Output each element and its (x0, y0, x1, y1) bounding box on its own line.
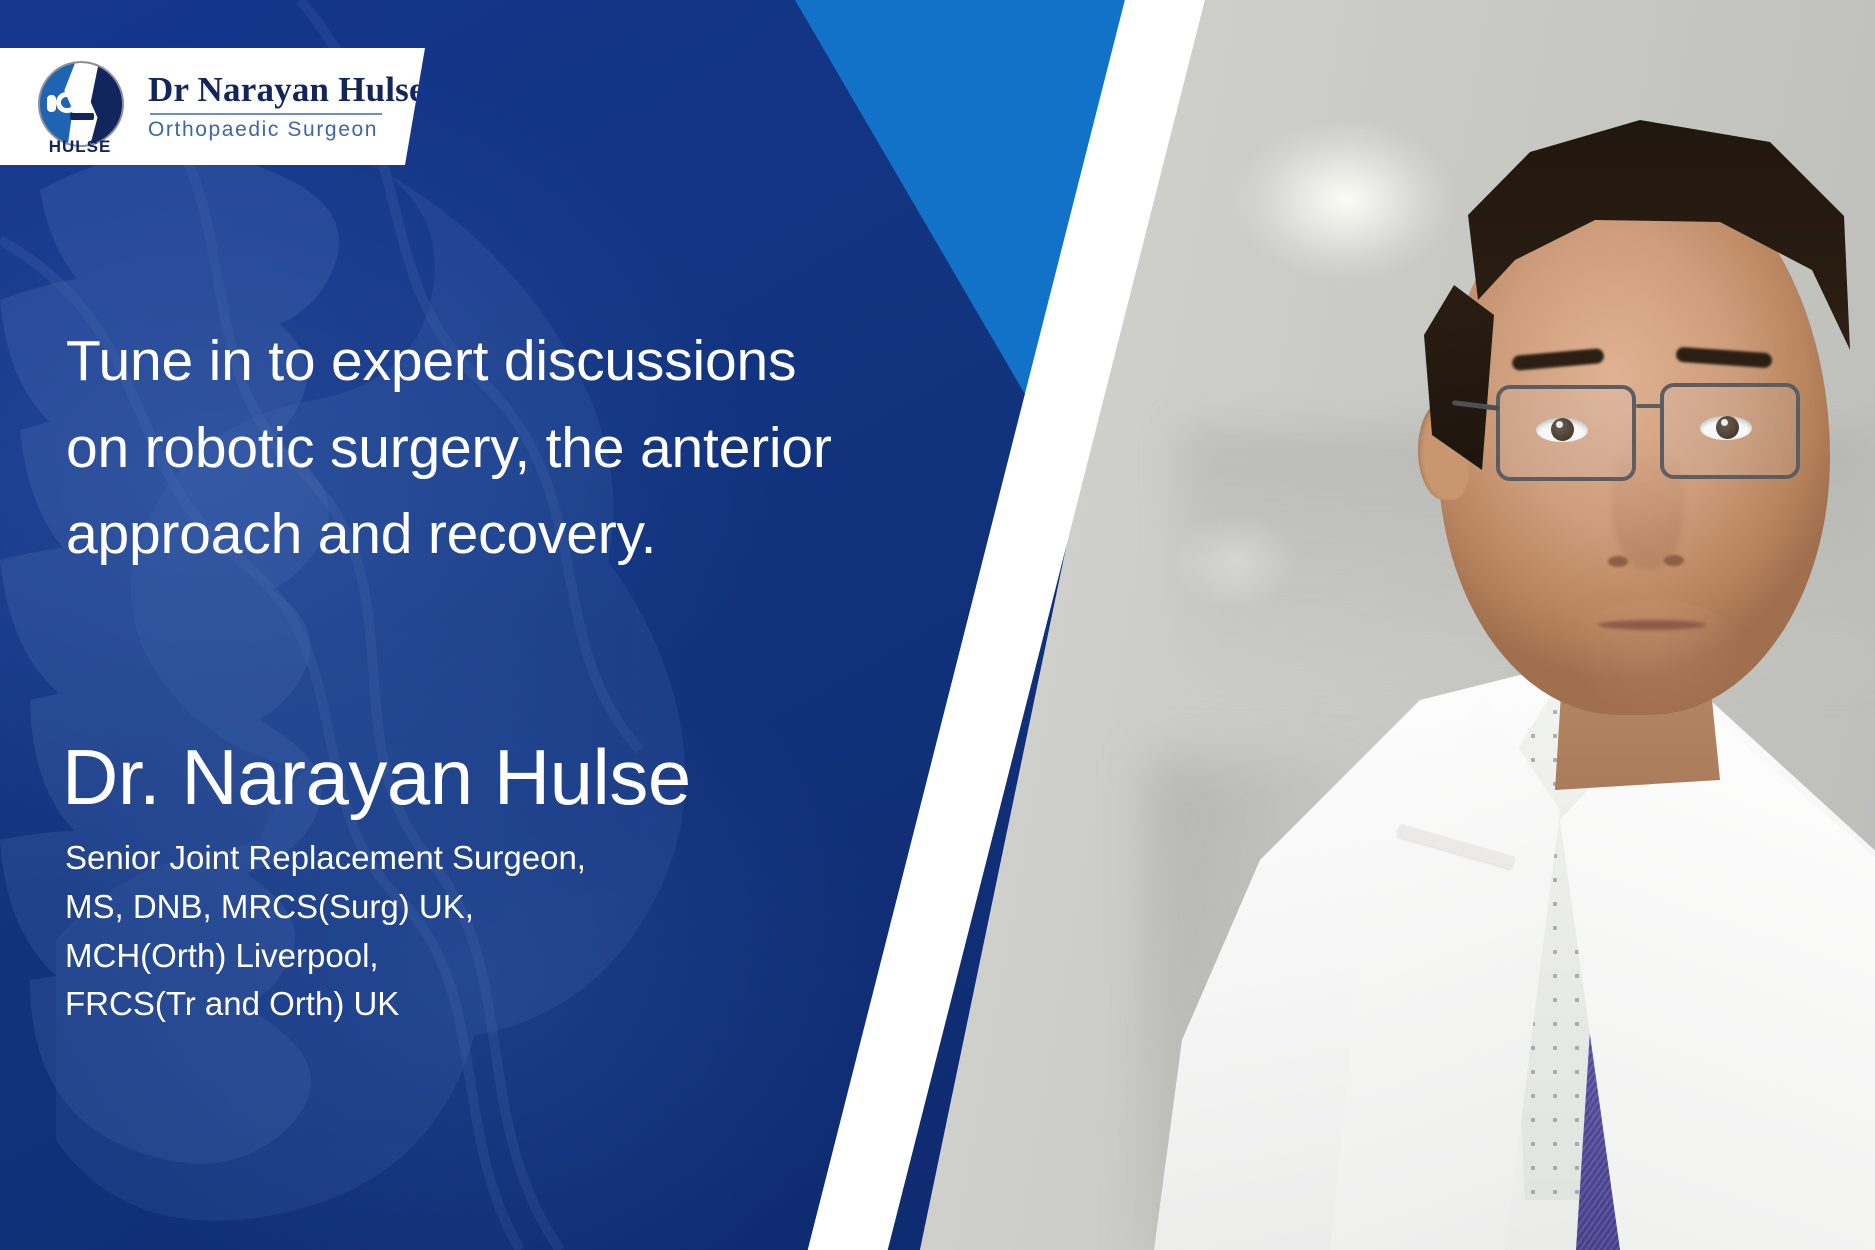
nostril-right (1664, 555, 1684, 566)
mouth (1598, 620, 1706, 630)
credential-line: MCH(Orth) Liverpool, (65, 932, 825, 981)
headline-line-1: Tune in to expert discussions (66, 318, 946, 405)
logo-mark-word: HULSE (34, 137, 126, 157)
logo-brand-name: Dr Narayan Hulse (148, 72, 425, 109)
logo-tagline: Orthopaedic Surgeon (148, 118, 425, 141)
credential-line: MS, DNB, MRCS(Surg) UK, (65, 883, 825, 932)
knee-joint-icon: HULSE (34, 61, 126, 153)
eyeglasses-lens-right (1660, 383, 1800, 479)
doctor-credentials: Senior Joint Replacement Surgeon, MS, DN… (65, 834, 825, 1029)
doctor-name: Dr. Narayan Hulse (62, 735, 962, 819)
chin-shading (1560, 600, 1750, 720)
eyeglasses-bridge (1636, 404, 1662, 408)
credential-line: Senior Joint Replacement Surgeon, (65, 834, 825, 883)
headline: Tune in to expert discussions on robotic… (66, 318, 946, 578)
logo-divider-rule (150, 113, 382, 115)
nostril-left (1608, 556, 1628, 567)
promo-banner: HULSE Dr Narayan Hulse Orthopaedic Surge… (0, 0, 1875, 1250)
brand-logo[interactable]: HULSE Dr Narayan Hulse Orthopaedic Surge… (0, 48, 425, 165)
credential-line: FRCS(Tr and Orth) UK (65, 980, 825, 1029)
nose (1612, 440, 1684, 570)
headline-line-3: approach and recovery. (66, 491, 946, 578)
headline-line-2: on robotic surgery, the anterior (66, 405, 946, 492)
